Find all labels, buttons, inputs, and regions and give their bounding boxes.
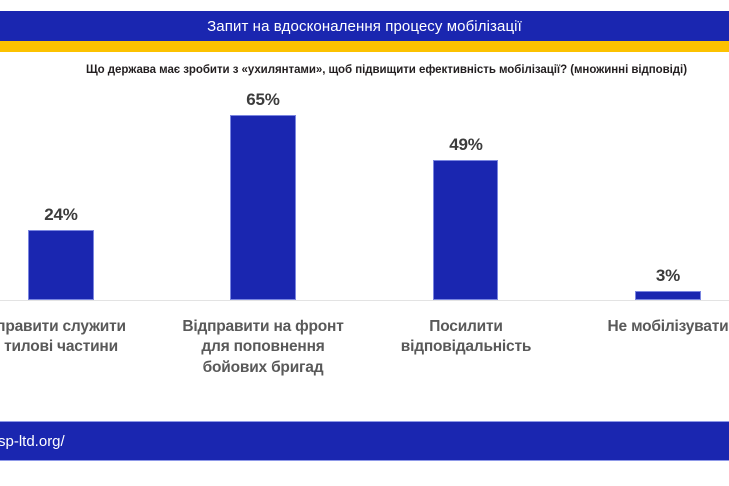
category-label-0: правити служити тилові частини [0,317,162,358]
bar-2 [433,160,498,300]
x-axis-line [0,300,729,301]
bar-1 [230,115,296,300]
category-label-1: Відправити на фронт для поповнення бойов… [162,317,364,378]
bar-value-label-2: 49% [416,136,516,153]
bar-value-label-3: 3% [618,267,718,284]
category-label-2: Посилити відповідальність [365,317,567,358]
bar-value-label-0: 24% [11,206,111,223]
category-label-3: Не мобілізувати [567,317,729,337]
bar-3 [635,291,701,300]
bar-chart: 24% 65% 49% 3% правити служити тилові ча… [0,0,729,486]
bar-0 [28,230,94,300]
bar-value-label-1: 65% [213,91,313,108]
footer-band: sp-ltd.org/ [0,421,729,461]
footer-url-text: sp-ltd.org/ [0,434,65,449]
